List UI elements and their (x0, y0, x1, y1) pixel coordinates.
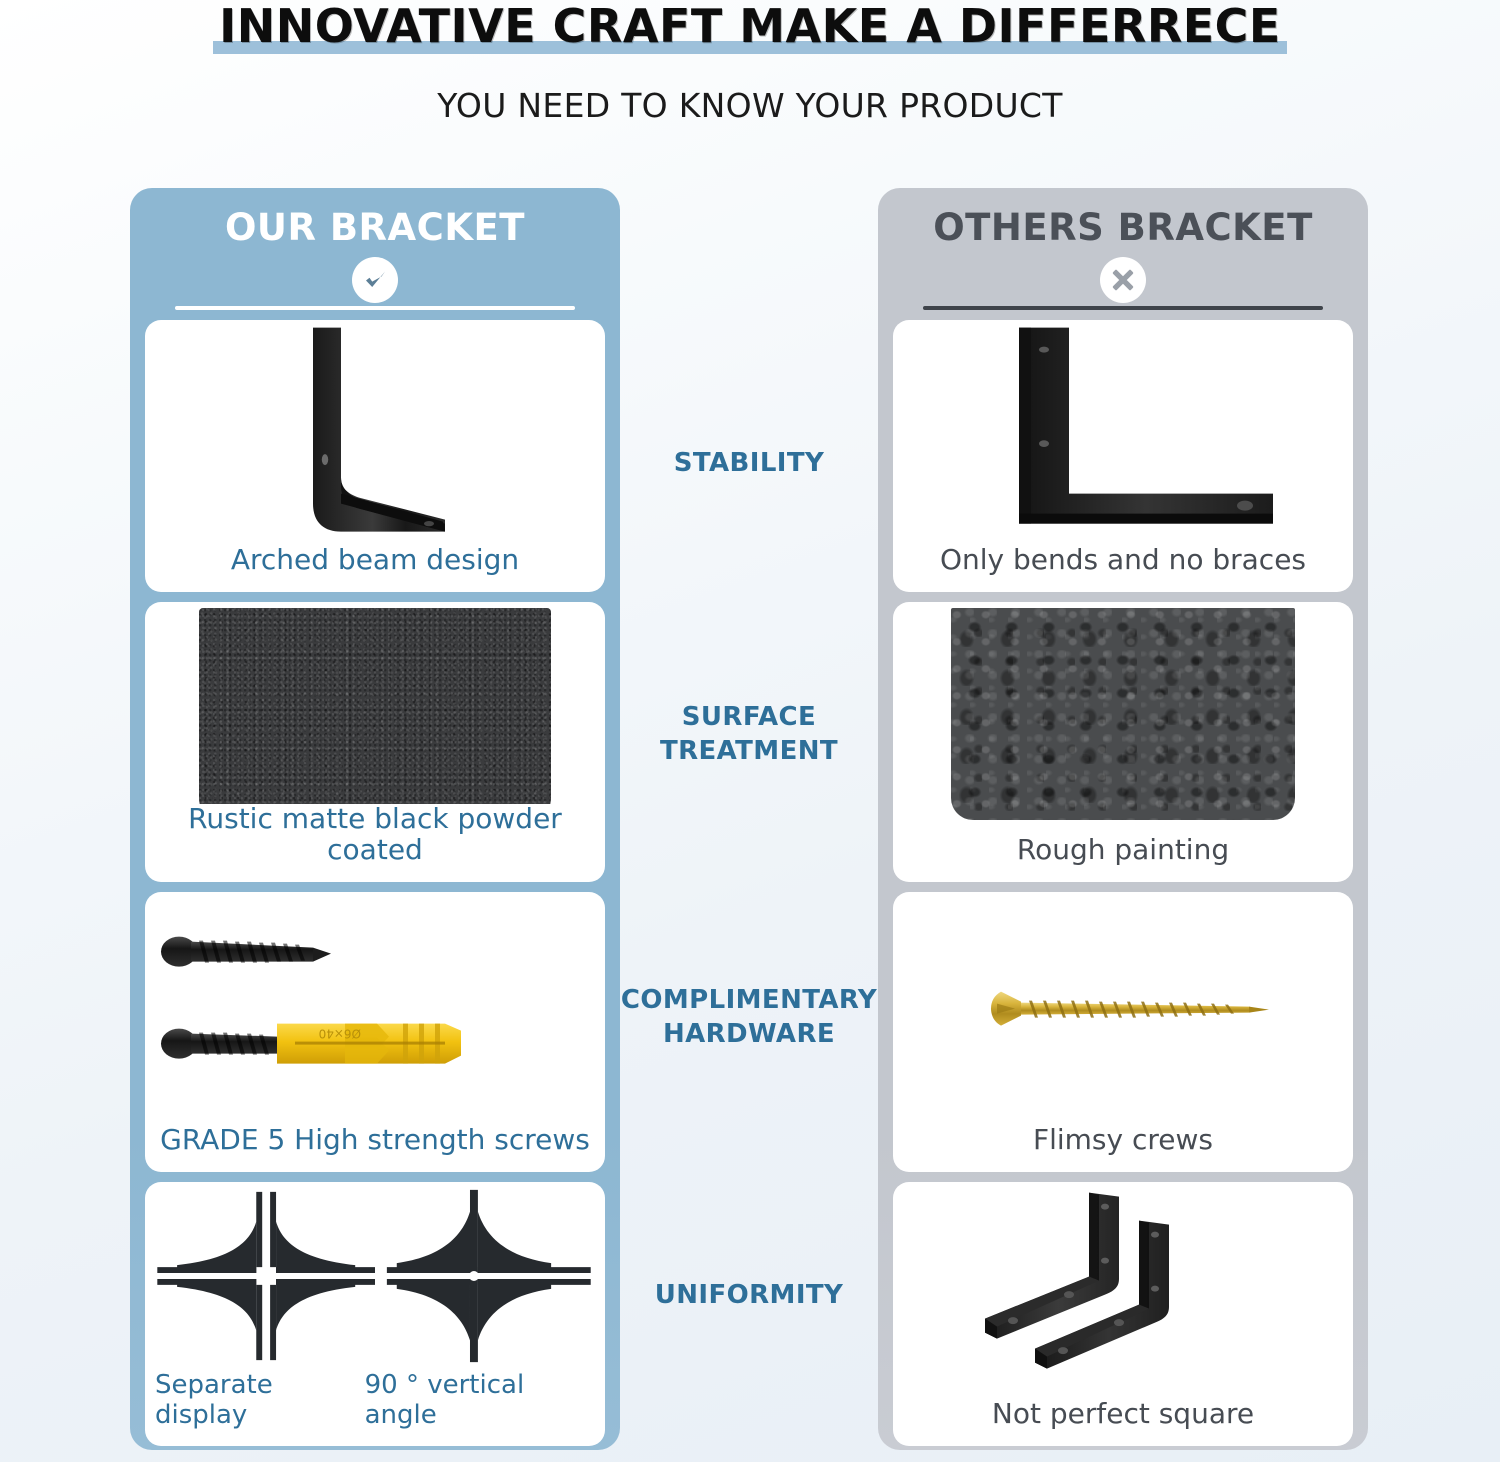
feature-label-surface-treatment: SURFACE TREATMENT (620, 700, 878, 769)
card-others-uniformity: Not perfect square (893, 1182, 1353, 1446)
arched-beam-bracket-photo (145, 320, 605, 545)
card-our-surface: Rustic matte black powder coated (145, 602, 605, 882)
page-title: INNOVATIVE CRAFT MAKE A DIFFERRECE (213, 2, 1287, 56)
card-caption: Rough painting (893, 835, 1353, 882)
cross-section-uniformity-diagram (145, 1182, 605, 1370)
our-bracket-panel: OUR BRACKET (130, 188, 620, 1450)
header-divider (923, 306, 1323, 310)
page-subtitle: YOU NEED TO KNOW YOUR PRODUCT (0, 86, 1500, 125)
card-our-stability: Arched beam design (145, 320, 605, 592)
black-screws-and-yellow-anchor: Ø6×40 (145, 892, 605, 1125)
card-caption-left: Separate display (155, 1370, 365, 1430)
card-our-uniformity: Separate display 90 ° vertical angle (145, 1182, 605, 1446)
gold-flimsy-screw-photo (893, 892, 1353, 1125)
comparison-section: OUR BRACKET (0, 188, 1500, 1450)
feature-label-line1: SURFACE (620, 700, 878, 734)
two-misaligned-l-brackets-photo (893, 1182, 1353, 1399)
card-caption-right: 90 ° vertical angle (365, 1370, 595, 1430)
card-caption: Rustic matte black powder coated (145, 804, 605, 882)
feature-label-line2: HARDWARE (620, 1017, 878, 1051)
page-title-text: INNOVATIVE CRAFT MAKE A DIFFERRECE (219, 0, 1281, 53)
separate-display-cross (157, 1192, 375, 1360)
screw-top (161, 937, 331, 967)
rough-paint-texture (893, 602, 1353, 835)
others-bracket-panel: OTHERS BRACKET (878, 188, 1368, 1450)
vertical-angle-cross (387, 1190, 591, 1362)
feature-label-complimentary-hardware: COMPLIMENTARY HARDWARE (620, 983, 878, 1052)
card-others-surface: Rough painting (893, 602, 1353, 882)
others-bracket-title: OTHERS BRACKET (893, 188, 1353, 249)
feature-label-uniformity: UNIFORMITY (620, 1278, 878, 1312)
feature-label-line1: COMPLIMENTARY (620, 983, 878, 1017)
our-bracket-header: OUR BRACKET (145, 188, 605, 320)
fine-powder-coat-texture (145, 602, 605, 804)
others-bracket-header: OTHERS BRACKET (893, 188, 1353, 320)
card-caption: Not perfect square (893, 1399, 1353, 1446)
check-circle-icon (352, 257, 398, 303)
screw-with-anchor: Ø6×40 (161, 1024, 461, 1064)
page-header: INNOVATIVE CRAFT MAKE A DIFFERRECE YOU N… (0, 0, 1500, 125)
anchor-marking-text: Ø6×40 (319, 1027, 361, 1041)
card-others-hardware: Flimsy crews (893, 892, 1353, 1172)
card-caption: Only bends and no braces (893, 545, 1353, 592)
texture-swatch (951, 608, 1295, 820)
texture-swatch (199, 608, 551, 804)
header-divider (175, 306, 575, 310)
card-caption: Flimsy crews (893, 1125, 1353, 1172)
plain-l-bracket-photo (893, 320, 1353, 545)
card-caption: GRADE 5 High strength screws (145, 1125, 605, 1172)
cross-circle-icon (1100, 257, 1146, 303)
card-caption: Arched beam design (145, 545, 605, 592)
card-our-hardware: Ø6×40 GRADE 5 High strength screws (145, 892, 605, 1172)
bracket-back (985, 1193, 1119, 1339)
card-others-stability: Only bends and no braces (893, 320, 1353, 592)
feature-label-column: STABILITY SURFACE TREATMENT COMPLIMENTAR… (620, 188, 878, 1450)
feature-label-stability: STABILITY (620, 446, 878, 480)
our-bracket-title: OUR BRACKET (145, 188, 605, 249)
uniformity-captions: Separate display 90 ° vertical angle (145, 1370, 605, 1446)
feature-label-line2: TREATMENT (620, 734, 878, 768)
